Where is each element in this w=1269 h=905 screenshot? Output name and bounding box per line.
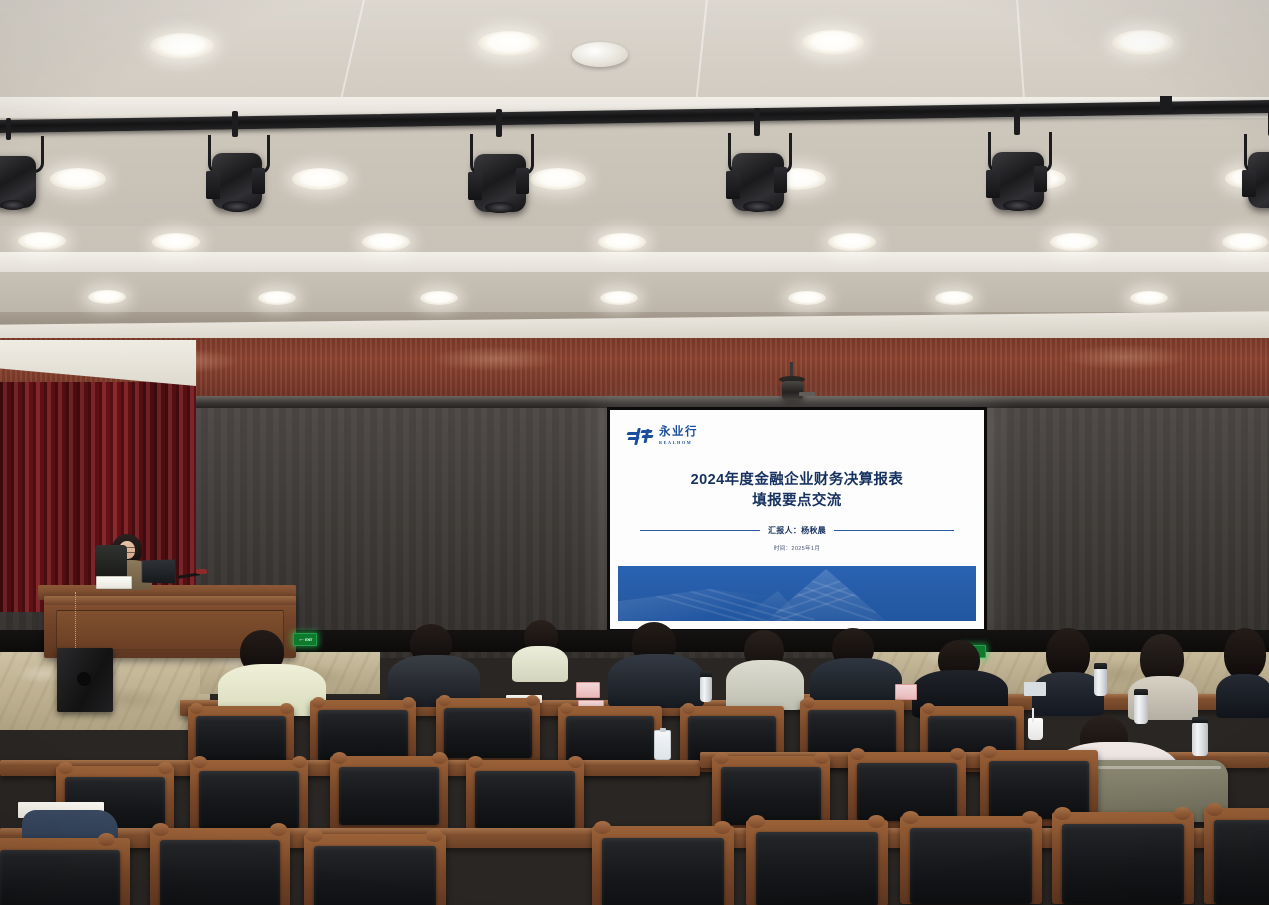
drink-cup	[1028, 718, 1043, 740]
stage-spotlight	[1238, 112, 1269, 220]
downlight	[935, 291, 973, 305]
auditorium-chair[interactable]	[150, 828, 290, 905]
downlight	[50, 168, 106, 190]
slide-date: 时间：2025年1月	[610, 544, 984, 552]
downlight	[150, 33, 214, 59]
desk-placard	[576, 682, 600, 698]
downlight	[362, 233, 410, 251]
attendee	[388, 624, 480, 704]
auditorium-chair[interactable]	[0, 838, 130, 905]
podium-top-edge	[44, 596, 296, 605]
auditorium-chair[interactable]	[466, 760, 584, 836]
attendee	[810, 628, 902, 708]
divider-right	[834, 530, 954, 532]
downlight	[802, 30, 864, 55]
downlight	[18, 232, 66, 250]
logo-chinese-name: 永业行	[659, 427, 698, 439]
ceiling-panel-mid	[0, 118, 1269, 226]
downlight	[478, 31, 540, 56]
presenter-laptop	[141, 560, 175, 584]
truss-clip	[1160, 96, 1172, 114]
stage-spotlight	[718, 111, 800, 223]
ceiling-beam	[0, 252, 1269, 274]
slide-title-line1: 2024年度金融企业财务决算报表	[610, 470, 984, 491]
company-logo: 永业行 REALHOM	[627, 427, 698, 445]
auditorium-chair[interactable]	[900, 816, 1042, 904]
wall-light-reflection	[1060, 344, 1190, 370]
downlight	[828, 233, 876, 251]
yh-monogram-icon	[627, 428, 653, 445]
attendee	[512, 620, 568, 678]
downlight	[152, 233, 200, 251]
downlight	[1112, 30, 1174, 55]
podium-nameplate	[96, 576, 132, 589]
downlight	[1222, 233, 1268, 251]
projection-screen: 永业行 REALHOM 2024年度金融企业财务决算报表 填报要点交流 汇报人：…	[607, 407, 987, 632]
slide-title: 2024年度金融企业财务决算报表 填报要点交流	[610, 470, 984, 511]
thermos-pitcher	[1094, 668, 1107, 696]
pa-speaker	[57, 648, 113, 712]
tablet-device	[1024, 682, 1046, 696]
stage-spotlight	[978, 110, 1060, 222]
ceiling	[0, 0, 1269, 335]
stage-spotlight	[460, 112, 542, 224]
auditorium-chair[interactable]	[304, 834, 446, 905]
auditorium-photo: 永业行 REALHOM 2024年度金融企业财务决算报表 填报要点交流 汇报人：…	[0, 0, 1269, 905]
downlight	[598, 233, 646, 251]
microphone-head	[196, 569, 207, 574]
desk-placard	[895, 684, 917, 700]
downlight	[88, 290, 126, 304]
slide-title-line2: 填报要点交流	[610, 491, 984, 512]
presenter-row: 汇报人：杨秋晨	[640, 525, 954, 536]
stage-spotlight	[0, 118, 58, 218]
downlight	[600, 291, 638, 305]
smoke-detector-icon	[572, 42, 628, 67]
downlight	[788, 291, 826, 305]
podium-chair	[95, 545, 127, 579]
attendee	[1216, 628, 1269, 714]
auditorium-chair[interactable]	[1052, 812, 1194, 904]
downlight	[420, 291, 458, 305]
downlight	[292, 168, 348, 190]
presenter-name: 汇报人：杨秋晨	[768, 525, 826, 536]
auditorium-chair[interactable]	[1204, 808, 1269, 904]
auditorium-chair[interactable]	[190, 760, 308, 836]
stage-spotlight	[198, 113, 278, 223]
auditorium-chair[interactable]	[330, 756, 448, 832]
presentation-slide: 永业行 REALHOM 2024年度金融企业财务决算报表 填报要点交流 汇报人：…	[610, 410, 984, 629]
thermos-pitcher	[1192, 722, 1208, 756]
downlight	[1050, 233, 1098, 251]
downlight	[258, 291, 296, 305]
logo-english-name: REALHOM	[659, 440, 698, 445]
auditorium-chair[interactable]	[746, 820, 888, 905]
attendee	[608, 622, 704, 704]
podium-cable	[75, 592, 78, 650]
water-bottle	[654, 730, 671, 760]
auditorium-chair[interactable]	[592, 826, 734, 905]
downlight	[1130, 291, 1168, 305]
auditorium-chair[interactable]	[436, 698, 540, 764]
slide-banner	[618, 566, 976, 621]
ceiling-projector	[775, 362, 811, 412]
wall-light-reflection	[430, 346, 560, 372]
attendee	[726, 630, 804, 708]
divider-left	[640, 530, 760, 532]
thermos-pitcher	[700, 676, 712, 702]
straw	[1032, 708, 1034, 722]
